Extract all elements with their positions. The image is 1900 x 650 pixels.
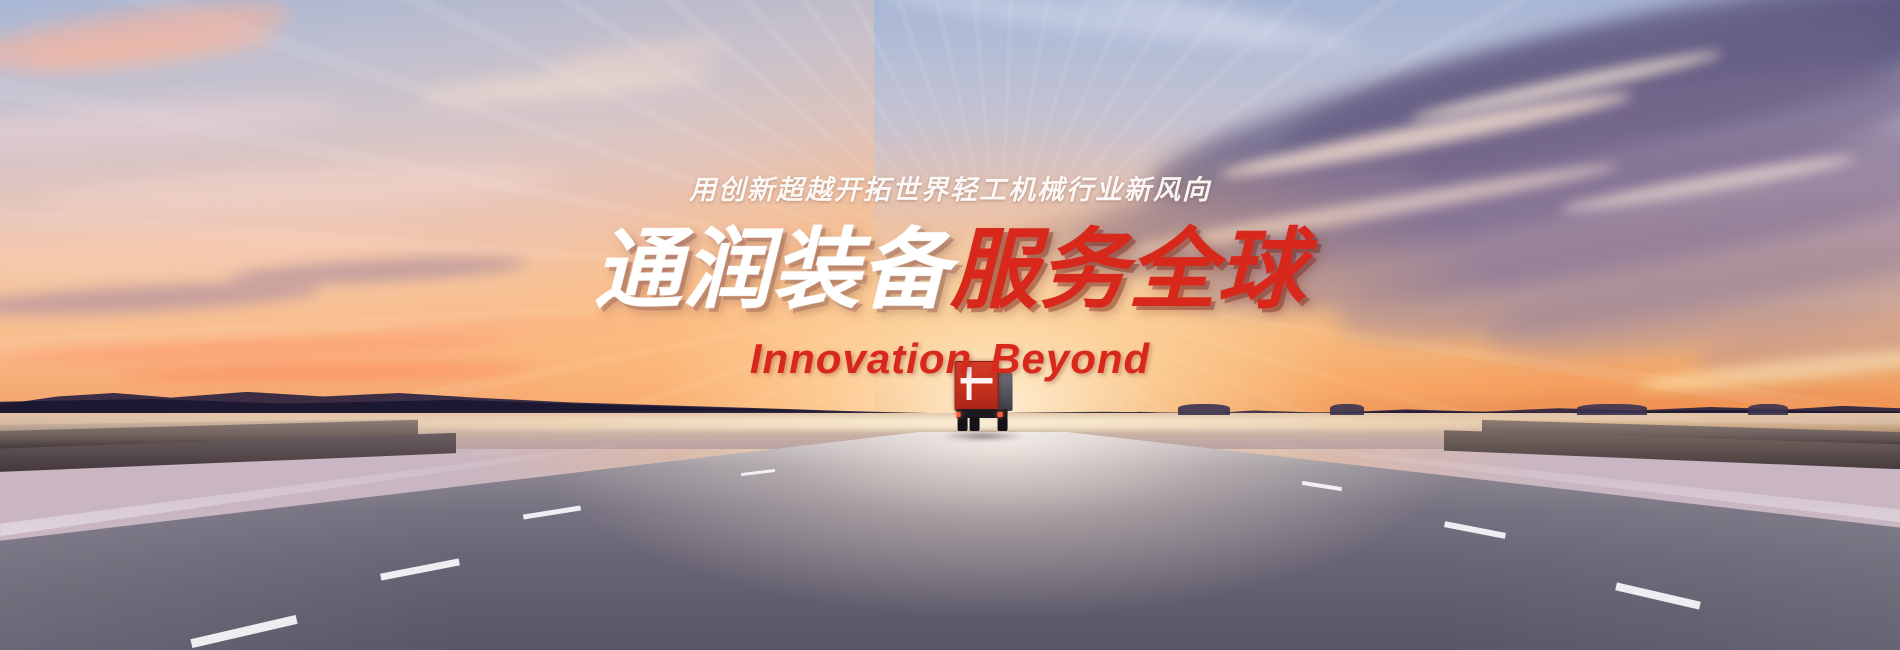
- headline-red-part: 服务全球: [950, 220, 1306, 319]
- truck-wheel: [957, 417, 967, 432]
- banner-subline: InnovationBeyond: [750, 335, 1150, 383]
- subline-word-innovation: Innovation: [750, 335, 972, 382]
- headline-white-part: 通润装备: [594, 220, 950, 319]
- truck-wheel: [969, 417, 979, 432]
- banner-headline: 通润装备服务全球: [594, 225, 1306, 315]
- truck-wheel: [998, 417, 1008, 432]
- subline-word-beyond: Beyond: [990, 335, 1150, 382]
- truck-tail-light: [957, 412, 961, 416]
- island: [1577, 404, 1647, 414]
- truck-tail-light: [998, 412, 1002, 416]
- island: [1330, 404, 1364, 414]
- island: [1748, 404, 1788, 414]
- hero-banner: 用创新超越开拓世界轻工机械行业新风向 通润装备服务全球 InnovationBe…: [0, 0, 1900, 650]
- water-glint: [0, 416, 1900, 430]
- banner-tagline: 用创新超越开拓世界轻工机械行业新风向: [689, 168, 1211, 207]
- island: [1178, 404, 1230, 414]
